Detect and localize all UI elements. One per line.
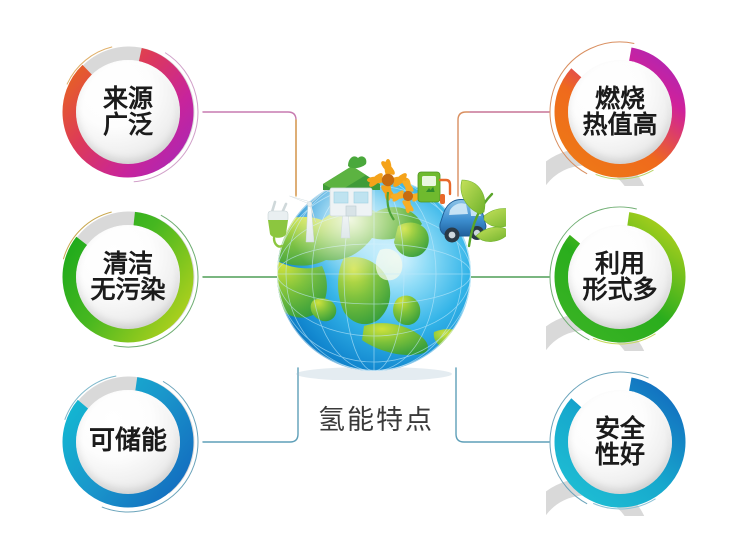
infographic-canvas: 氢能特点 来源 广泛	[0, 0, 752, 557]
center-caption: 氢能特点	[246, 398, 506, 437]
node-source-wide[interactable]: 来源 广泛	[54, 38, 202, 186]
node-label-line: 清洁	[90, 251, 165, 278]
node-label-line: 形式多	[582, 277, 657, 304]
node-label-line: 广泛	[103, 112, 153, 139]
node-label-line: 燃烧	[582, 86, 657, 113]
node-label-storable: 可储能	[89, 428, 167, 456]
node-inner-storable: 可储能	[76, 390, 180, 494]
node-inner-many-use-forms: 利用 形式多	[568, 225, 672, 329]
node-inner-source-wide: 来源 广泛	[76, 60, 180, 164]
globe-illustration	[248, 150, 506, 380]
node-inner-clean-no-pollution: 清洁 无污染	[76, 225, 180, 329]
node-label-clean-no-pollution: 清洁 无污染	[90, 251, 165, 304]
node-label-high-heat-value: 燃烧 热值高	[582, 86, 657, 139]
node-label-line: 安全	[595, 416, 645, 443]
fuel-pump-icon	[418, 172, 450, 204]
node-storable[interactable]: 可储能	[54, 368, 202, 516]
node-inner-high-heat-value: 燃烧 热值高	[568, 60, 672, 164]
node-label-line: 来源	[103, 86, 153, 113]
node-clean-no-pollution[interactable]: 清洁 无污染	[54, 203, 202, 351]
node-label-line: 热值高	[582, 112, 657, 139]
node-inner-good-safety: 安全 性好	[568, 390, 672, 494]
node-many-use-forms[interactable]: 利用 形式多	[546, 203, 694, 351]
node-label-line: 性好	[595, 442, 645, 469]
node-label-line: 利用	[582, 251, 657, 278]
node-label-source-wide: 来源 广泛	[103, 86, 153, 139]
node-label-many-use-forms: 利用 形式多	[582, 251, 657, 304]
node-label-good-safety: 安全 性好	[595, 416, 645, 469]
node-label-line: 无污染	[90, 277, 165, 304]
node-high-heat-value[interactable]: 燃烧 热值高	[546, 38, 694, 186]
node-good-safety[interactable]: 安全 性好	[546, 368, 694, 516]
node-label-line: 可储能	[89, 428, 167, 456]
globe-svg	[248, 150, 506, 380]
